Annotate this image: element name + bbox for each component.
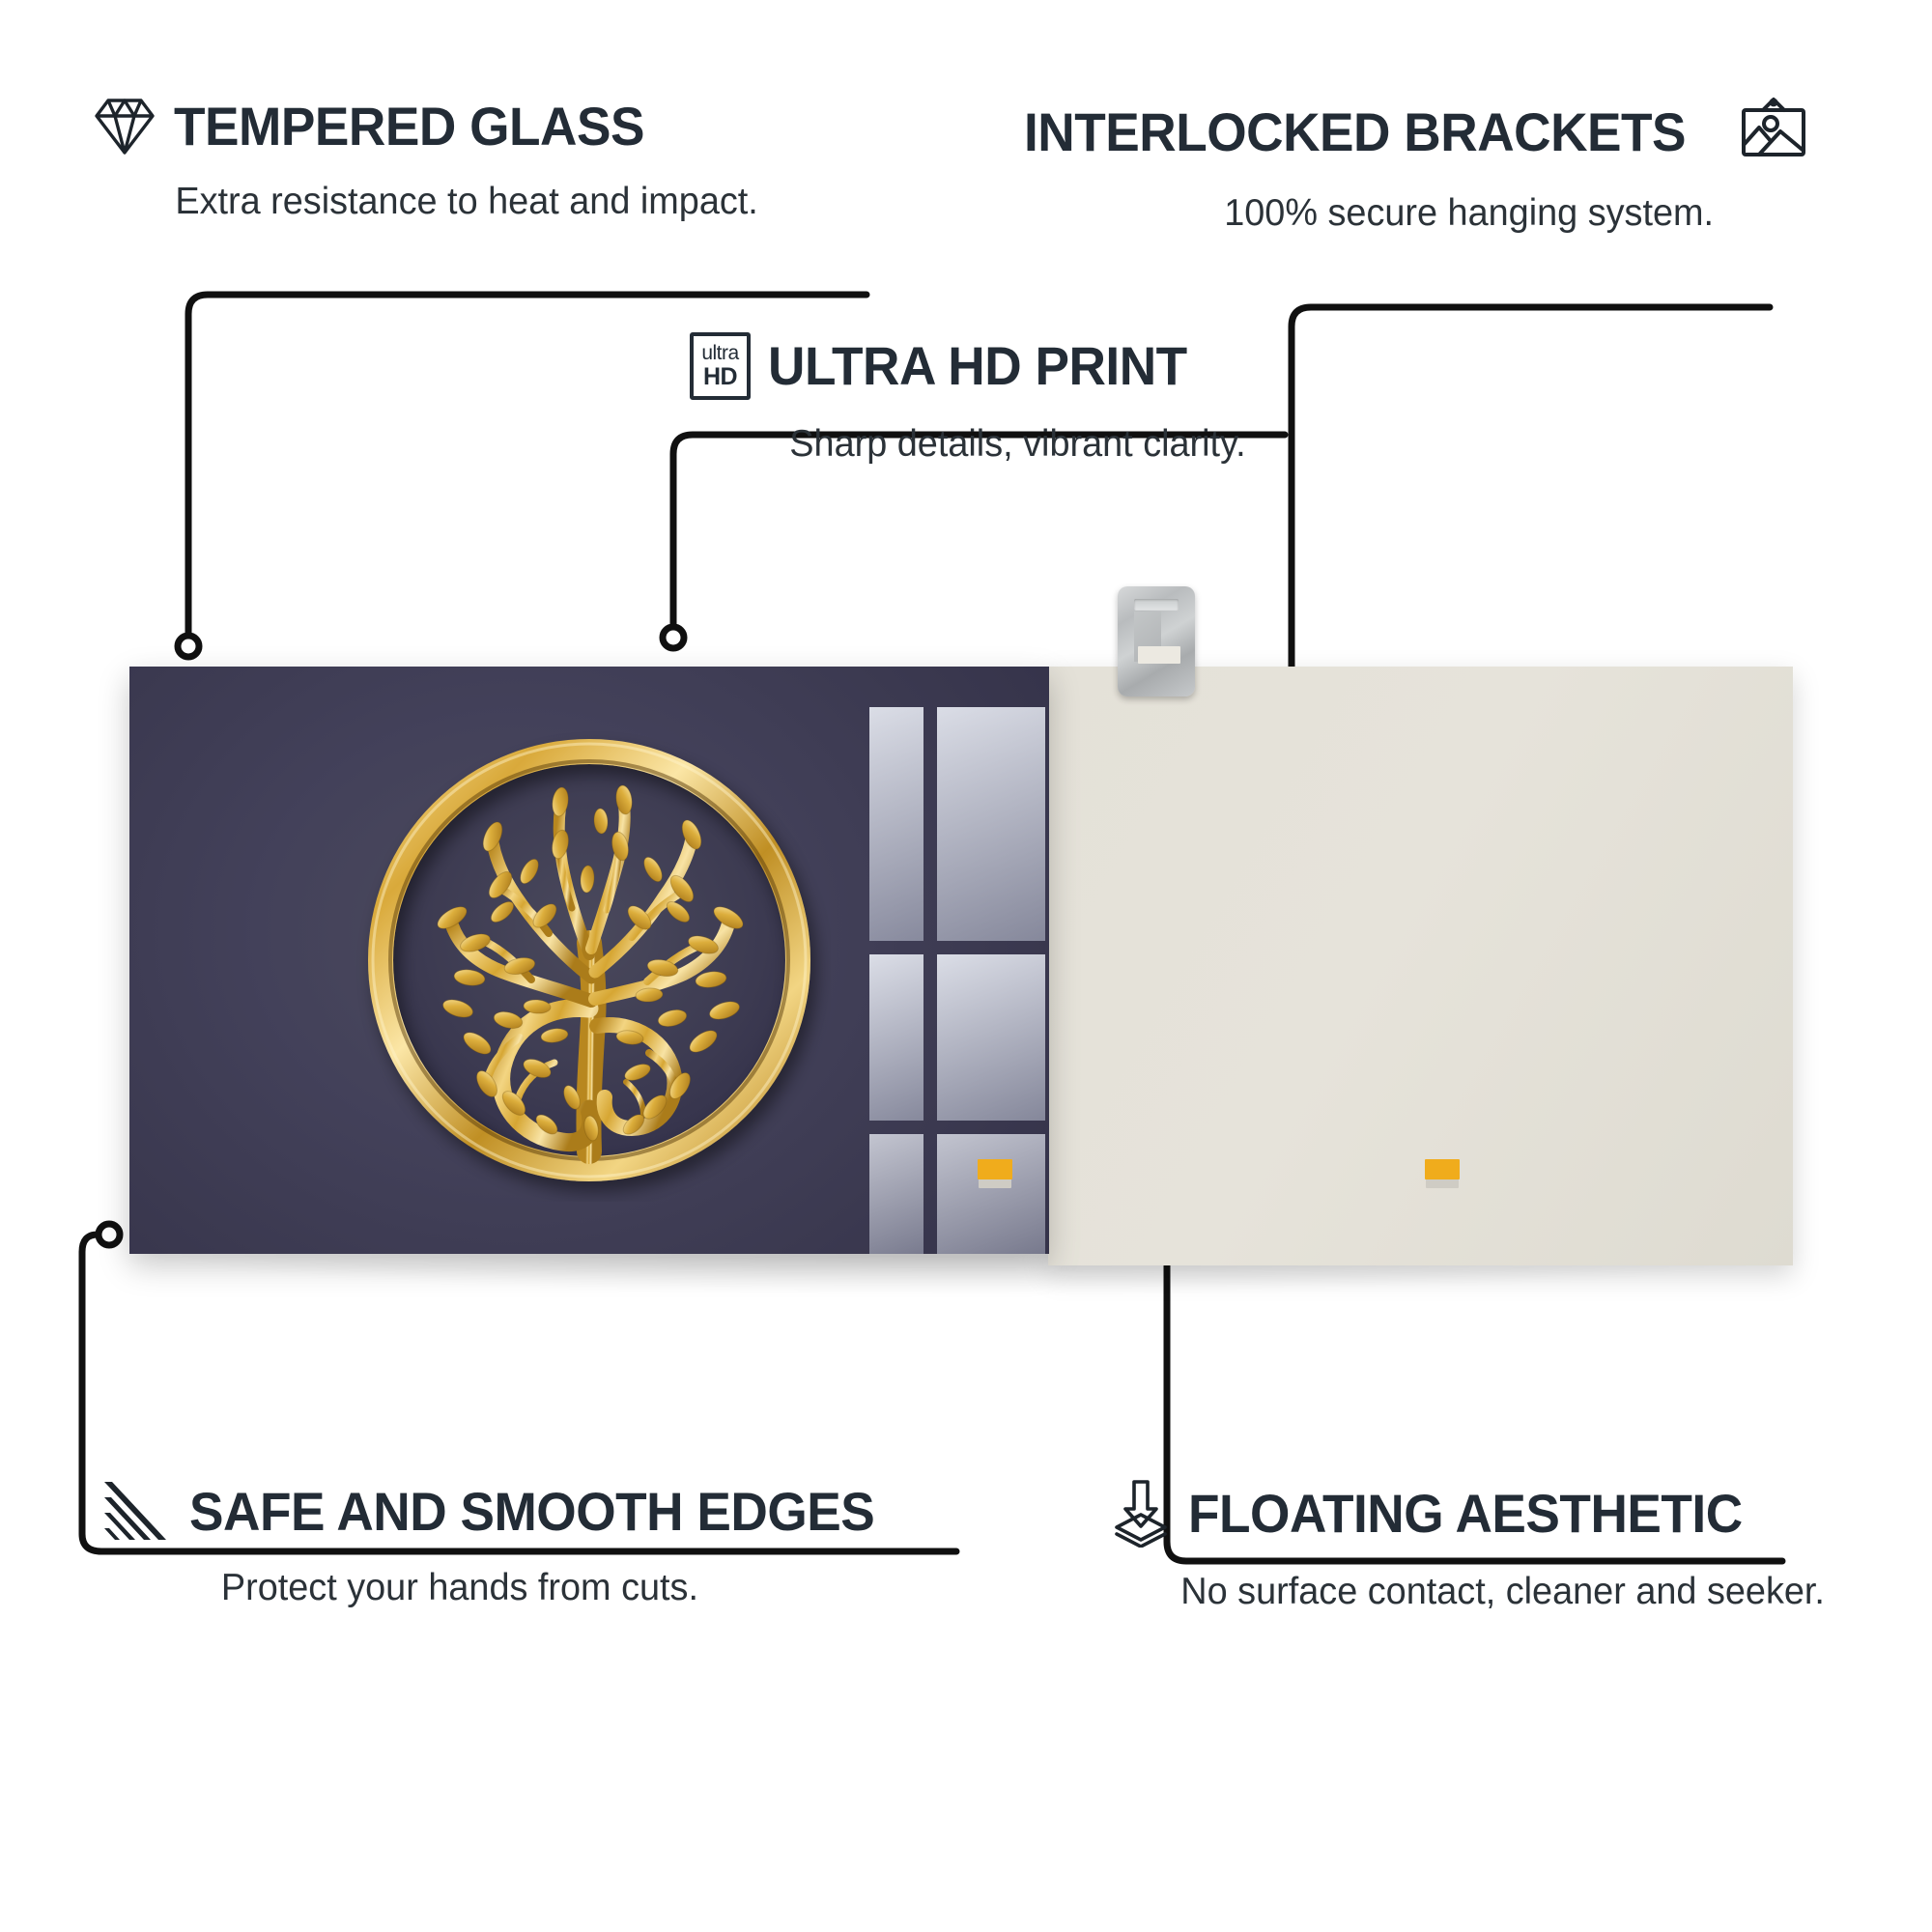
connector-interlocked-brackets	[1292, 307, 1770, 707]
back-panel	[1048, 667, 1793, 1265]
feature-subtitle: Protect your hands from cuts.	[221, 1569, 900, 1606]
connector-dot-tempered-glass	[178, 636, 199, 657]
feature-title: INTERLOCKED BRACKETS	[1024, 105, 1686, 159]
spacer-pad-left	[978, 1159, 1012, 1188]
connector-dot-safe-edges	[99, 1224, 120, 1245]
diagonal-lines-edge-icon	[102, 1480, 172, 1544]
feature-subtitle: 100% secure hanging system.	[1224, 194, 1801, 232]
connector-dot-ultra-hd	[663, 627, 684, 648]
bracket-keyhole-opening	[1138, 646, 1180, 664]
diamond-icon	[93, 97, 156, 156]
spacer-pad-right	[1425, 1159, 1460, 1188]
feature-subtitle: No surface contact, cleaner and seeker.	[1180, 1573, 1825, 1610]
product-panels	[129, 667, 1793, 1265]
feature-interlocked-brackets: INTERLOCKED BRACKETS 100% secure hanging…	[1024, 97, 1809, 232]
feature-title: ULTRA HD PRINT	[768, 339, 1187, 393]
feature-ultra-hd-print: ultra HD ULTRA HD PRINT Sharp details, v…	[690, 332, 1253, 463]
ultra-hd-badge-line2: HD	[703, 365, 737, 389]
arrow-down-into-layers-icon	[1111, 1480, 1171, 1548]
ultra-hd-badge-icon: ultra HD	[690, 332, 751, 400]
feature-tempered-glass: TEMPERED GLASS Extra resistance to heat …	[93, 97, 767, 220]
infographic-stage: TEMPERED GLASS Extra resistance to heat …	[0, 0, 1932, 1932]
interlocked-bracket	[1118, 586, 1195, 696]
feature-title: FLOATING AESTHETIC	[1188, 1487, 1743, 1541]
front-panel-artwork	[129, 667, 1049, 1254]
feature-floating-aesthetic: FLOATING AESTHETIC No surface contact, c…	[1111, 1480, 1834, 1610]
feature-safe-and-smooth-edges: SAFE AND SMOOTH EDGES Protect your hands…	[102, 1480, 911, 1606]
feature-title: SAFE AND SMOOTH EDGES	[189, 1485, 874, 1539]
feature-subtitle: Extra resistance to heat and impact.	[175, 183, 757, 220]
ultra-hd-badge-line1: ultra	[701, 343, 738, 363]
bracket-slot-top	[1134, 599, 1179, 611]
hanging-picture-frame-icon	[1738, 97, 1809, 168]
feature-title: TEMPERED GLASS	[174, 99, 644, 154]
feature-subtitle: Sharp details, vibrant clarity.	[789, 425, 1245, 463]
tree-of-life-icon	[348, 719, 831, 1202]
